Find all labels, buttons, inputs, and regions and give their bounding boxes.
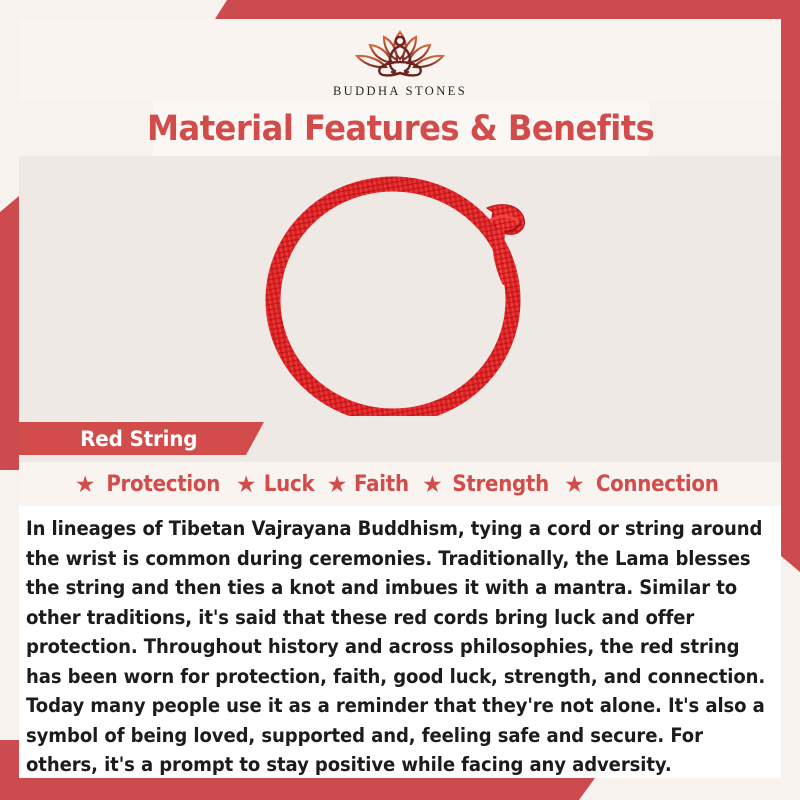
red-string-bracelet-image [235,160,565,432]
page-title: Material Features & Benefits [147,109,654,149]
label-row: Red String [19,416,781,462]
star-icon: ★ [75,473,96,496]
description-text: In lineages of Tibetan Vajrayana Buddhis… [26,514,766,780]
feature-list: ★ Protection ★ Luck ★ Faith ★ Strength ★… [19,462,781,506]
star-icon: ★ [327,473,348,496]
feature-label: Protection [106,472,220,497]
feature-label: Strength [452,472,549,497]
material-label: Red String [80,427,197,451]
brand-name: BUDDHA STONES [333,84,467,99]
feature-label: Luck [263,472,314,497]
star-icon: ★ [236,473,257,496]
decorative-band-right [781,0,800,572]
decorative-band-bottom [0,778,595,800]
brand-header: BUDDHA STONES [19,19,781,101]
feature-item: ★ Protection [75,472,226,497]
feature-label: Faith [354,472,409,497]
lotus-meditation-icon [348,23,452,83]
feature-label: Connection [596,472,719,497]
content-panel: BUDDHA STONES Material Features & Benefi… [19,19,781,778]
brand-logo: BUDDHA STONES [333,23,467,99]
feature-item: ★ Luck [236,472,317,497]
infographic-canvas: BUDDHA STONES Material Features & Benefi… [0,0,800,800]
star-icon: ★ [422,473,443,496]
feature-item: ★ Connection [564,472,725,497]
feature-item: ★ Strength [422,472,554,497]
decorative-band-top [215,0,800,19]
decorative-band-left [0,196,19,470]
description-block: In lineages of Tibetan Vajrayana Buddhis… [19,506,781,778]
feature-item: ★ Faith [327,472,412,497]
title-banner: Material Features & Benefits [153,101,649,156]
material-label-banner: Red String [19,422,264,455]
product-image-zone [19,156,781,435]
star-icon: ★ [564,473,585,496]
